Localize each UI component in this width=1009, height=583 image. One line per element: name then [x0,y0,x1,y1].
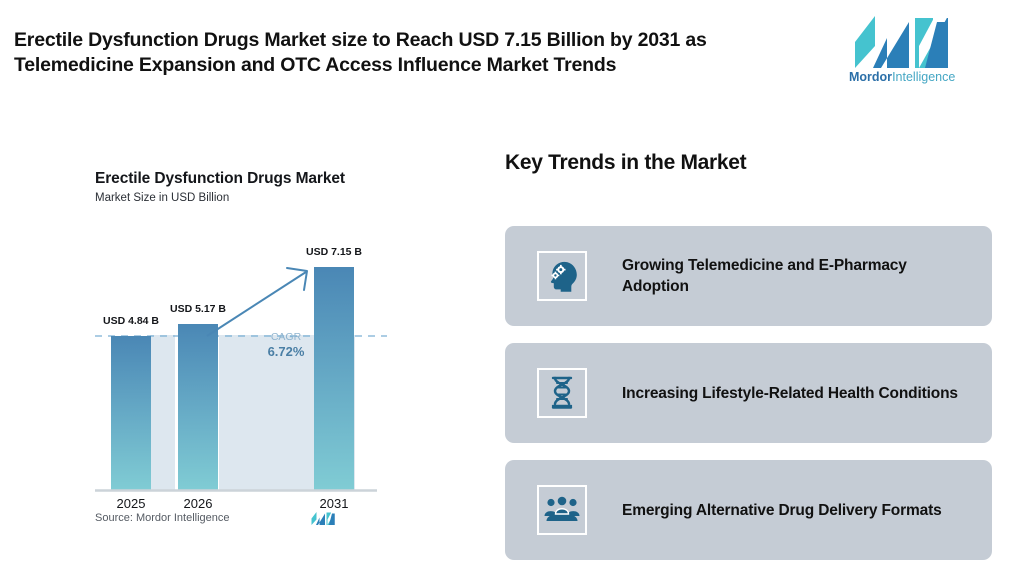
cagr-label-text: CAGR [255,330,317,344]
chart-source-text: Source: Mordor Intelligence [95,512,230,524]
key-trends-card-list: Growing Telemedicine and E-Pharmacy Adop… [505,226,992,577]
chart-title: Erectile Dysfunction Drugs Market [95,170,345,188]
bar-value-label-2031: USD 7.15 B [294,246,374,258]
bar-2025 [111,336,151,490]
x-tick-2031: 2031 [299,496,369,511]
bar-2031 [314,267,354,490]
trend-card-text: Increasing Lifestyle-Related Health Cond… [622,383,964,404]
head-with-gears-icon [545,259,579,293]
cagr-value-text: 6.72% [255,344,317,360]
page-header: Erectile Dysfunction Drugs Market size t… [0,0,1009,120]
market-size-chart-panel: Erectile Dysfunction Drugs Market Market… [78,160,478,560]
cagr-growth-arrow [207,268,307,336]
brand-wordmark: MordorIntelligence [849,70,953,84]
x-tick-2025: 2025 [96,496,166,511]
group-of-people-icon [544,496,580,524]
trend-card-text: Growing Telemedicine and E-Pharmacy Adop… [622,255,964,297]
trend-card-telemedicine[interactable]: Growing Telemedicine and E-Pharmacy Adop… [505,226,992,326]
x-tick-2026: 2026 [163,496,233,511]
brand-name-bold: Mordor [849,70,892,84]
page-title: Erectile Dysfunction Drugs Market size t… [14,28,824,78]
key-trends-panel: Key Trends in the Market [505,150,992,570]
chart-subtitle: Market Size in USD Billion [95,192,229,204]
dna-helix-icon [546,376,578,410]
mordor-m-logo-icon [849,16,953,68]
chart-plot-area: USD 4.84 B USD 5.17 B USD 7.15 B CAGR 6.… [95,235,387,495]
bar-value-label-2025: USD 4.84 B [91,315,171,327]
bar-2026 [178,324,218,490]
key-trends-heading: Key Trends in the Market [505,151,746,175]
brand-name-light: Intelligence [892,70,955,84]
trend-icon-frame [537,368,587,418]
trend-icon-frame [537,251,587,301]
mordor-intelligence-logo: MordorIntelligence [849,16,953,92]
trend-icon-frame [537,485,587,535]
chart-band [150,335,175,490]
trend-card-drug-delivery[interactable]: Emerging Alternative Drug Delivery Forma… [505,460,992,560]
trend-card-text: Emerging Alternative Drug Delivery Forma… [622,500,964,521]
cagr-annotation: CAGR 6.72% [255,330,317,360]
mordor-m-mark-icon [310,510,336,527]
bar-chart-svg [95,235,387,495]
bar-value-label-2026: USD 5.17 B [158,303,238,315]
trend-card-lifestyle-conditions[interactable]: Increasing Lifestyle-Related Health Cond… [505,343,992,443]
